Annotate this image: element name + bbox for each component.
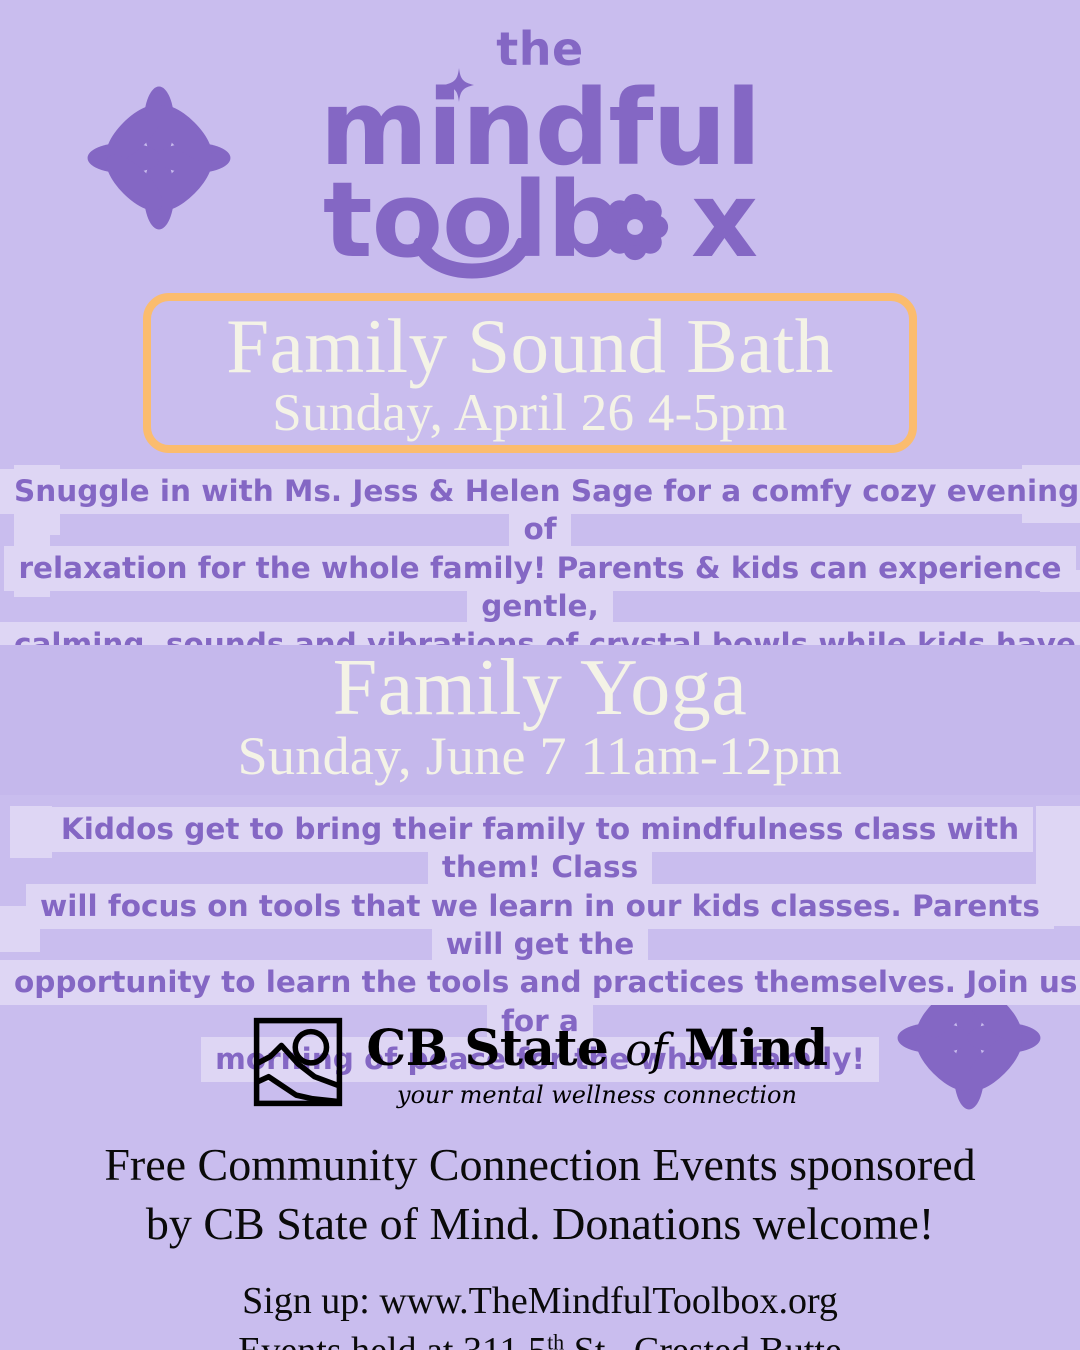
event-date: Sunday, June 7 11am-12pm	[0, 728, 1080, 785]
footer: Free Community Connection Events sponsor…	[0, 1136, 1080, 1350]
sponsor-logo: CB State of Mind your mental wellness co…	[0, 1016, 1080, 1113]
sponsor-name-part2: Mind	[684, 1018, 828, 1077]
sparkle-icon	[444, 68, 474, 107]
event-title: Family Sound Bath	[151, 307, 909, 386]
description-line: Kiddos get to bring their family to mind…	[0, 810, 1080, 887]
description-line-text: Snuggle in with Ms. Jess & Helen Sage fo…	[0, 469, 1080, 552]
description-line-text: will focus on tools that we learn in our…	[26, 884, 1054, 967]
brand-the-label: the	[0, 0, 1080, 72]
sponsor-tagline: your mental wellness connection	[366, 1083, 827, 1107]
event-date: Sunday, April 26 4-5pm	[151, 386, 909, 442]
description-line: Snuggle in with Ms. Jess & Helen Sage fo…	[0, 472, 1080, 549]
footer-signup-link[interactable]: Sign up: www.TheMindfulToolbox.org	[0, 1276, 1080, 1326]
footer-sponsor-line-1: Free Community Connection Events sponsor…	[0, 1136, 1080, 1195]
event-title: Family Yoga	[0, 648, 1080, 730]
flyer-canvas: the mindful toolbox	[0, 0, 1080, 1350]
brand-logo: the mindful toolbox	[0, 0, 1080, 272]
description-line-text: Kiddos get to bring their family to mind…	[47, 807, 1033, 890]
footer-address: Events held at 311 5th St., Crested Butt…	[0, 1326, 1080, 1350]
brand-toolbox-suffix: x	[691, 159, 757, 281]
sponsor-name-of: of	[625, 1025, 667, 1076]
event-card-family-yoga: Family Yoga Sunday, June 7 11am-12pm	[0, 648, 1080, 784]
brand-toolbox-label: toolbox	[0, 170, 1080, 272]
flower-icon	[599, 191, 671, 268]
event-card-family-sound-bath: Family Sound Bath Sunday, April 26 4-5pm	[143, 293, 917, 453]
description-line-text: relaxation for the whole family! Parents…	[4, 546, 1075, 629]
footer-address-suffix: St., Crested Butte	[564, 1330, 842, 1350]
smile-icon	[413, 238, 531, 291]
brand-wordmark: mindful toolbox	[0, 78, 1080, 272]
mountain-sun-frame-icon	[252, 1016, 344, 1113]
description-line: will focus on tools that we learn in our…	[0, 887, 1080, 964]
sponsor-name-part1: CB State	[366, 1018, 608, 1077]
footer-address-prefix: Events held at 311 5	[238, 1330, 547, 1350]
sponsor-name: CB State of Mind	[366, 1023, 827, 1073]
description-line: relaxation for the whole family! Parents…	[0, 549, 1080, 626]
footer-sponsor-line-2: by CB State of Mind. Donations welcome!	[0, 1195, 1080, 1254]
sponsor-text-block: CB State of Mind your mental wellness co…	[366, 1023, 827, 1107]
footer-address-ordinal: th	[547, 1329, 564, 1350]
